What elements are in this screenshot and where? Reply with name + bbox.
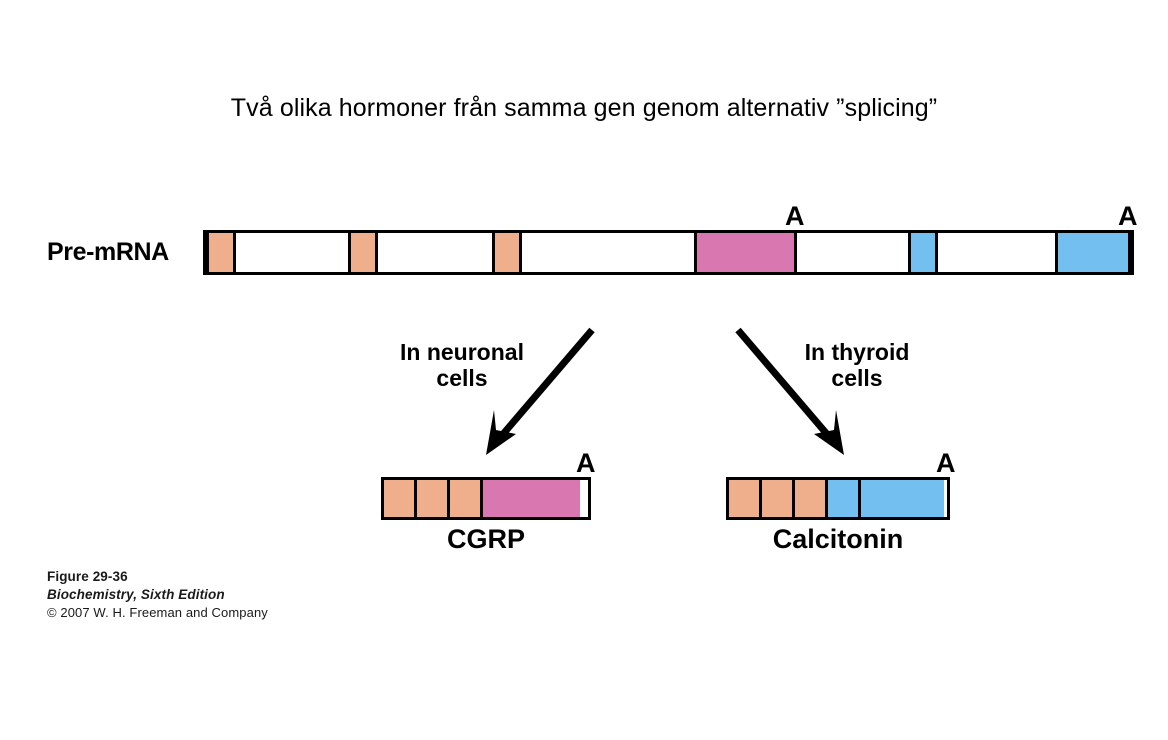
product-label-calcitonin: Calcitonin (706, 524, 970, 555)
calcitonin-segment-exon-6 (861, 480, 944, 517)
premrna-segment-exon-2 (348, 233, 378, 272)
premrna-segment-intron-3 (525, 233, 691, 272)
premrna-segment-intron-4 (800, 233, 905, 272)
calcitonin-segment-exon-1 (729, 480, 762, 517)
figure-caption: Figure 29-36 Biochemistry, Sixth Edition… (47, 568, 268, 621)
page-title: Två olika hormoner från samma gen genom … (0, 94, 1168, 123)
premrna-segment-intron-2 (381, 233, 489, 272)
poly-a-marker-cgrp: A (576, 450, 596, 477)
arrow-neuronal (470, 322, 600, 462)
poly-a-marker-exon6: A (1118, 203, 1138, 230)
premrna-segment-intron-5 (941, 233, 1052, 272)
premrna-segment-exon-1 (206, 233, 236, 272)
cgrp-segment-exon-3 (450, 480, 483, 517)
premrna-segment-exon-3 (492, 233, 522, 272)
calcitonin-bar (726, 477, 950, 520)
premrna-label: Pre-mRNA (47, 238, 169, 267)
arrow-thyroid (730, 322, 860, 462)
caption-copyright: © 2007 W. H. Freeman and Company (47, 604, 268, 621)
calcitonin-segment-exon-2 (762, 480, 795, 517)
product-label-cgrp: CGRP (381, 524, 591, 555)
caption-figure-number: Figure 29-36 (47, 568, 268, 586)
poly-a-marker-exon4: A (785, 203, 805, 230)
cgrp-segment-exon-cgrp (483, 480, 580, 517)
cgrp-segment-exon-1 (384, 480, 417, 517)
calcitonin-segment-exon-5 (828, 480, 861, 517)
cgrp-segment-exon-2 (417, 480, 450, 517)
premrna-bar (203, 230, 1134, 275)
premrna-segment-exon-6 (1055, 233, 1131, 272)
premrna-segment-exon-4-calcitonin (694, 233, 797, 272)
cgrp-bar (381, 477, 591, 520)
poly-a-marker-calcitonin: A (936, 450, 956, 477)
premrna-segment-exon-5 (908, 233, 938, 272)
calcitonin-segment-exon-3 (795, 480, 828, 517)
caption-book-title: Biochemistry, Sixth Edition (47, 586, 268, 604)
premrna-segment-intron-1 (239, 233, 345, 272)
